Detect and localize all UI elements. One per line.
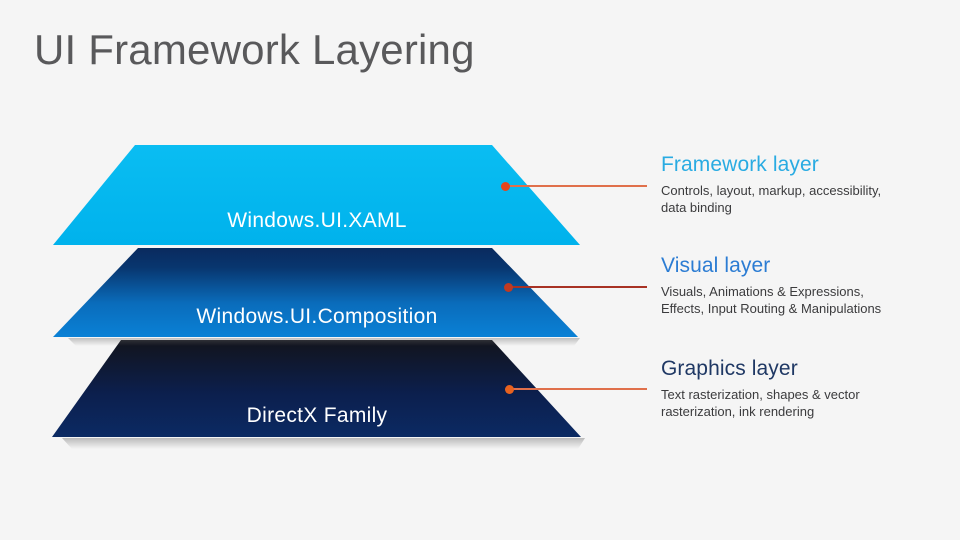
- slide-canvas: UI Framework Layering: [0, 0, 960, 540]
- callout-graphics-desc-line-1: Text rasterization, shapes & vector: [661, 386, 953, 403]
- callout-visual-title: Visual layer: [661, 253, 953, 279]
- connector-line-framework: [506, 185, 647, 187]
- callout-visual-desc-line-1: Visuals, Animations & Expressions,: [661, 283, 953, 300]
- connector-dot-visual: [504, 283, 513, 292]
- callout-visual-description: Visuals, Animations & Expressions, Effec…: [661, 283, 953, 317]
- callout-framework-title: Framework layer: [661, 152, 953, 178]
- callout-framework-description: Controls, layout, markup, accessibility,…: [661, 182, 953, 216]
- callout-graphics-desc-line-2: rasterization, ink rendering: [661, 403, 953, 420]
- layer-framework-shape: [0, 0, 660, 470]
- connector-dot-graphics: [505, 385, 514, 394]
- callout-visual: Visual layer Visuals, Animations & Expre…: [661, 253, 953, 317]
- connector-line-visual: [509, 286, 647, 288]
- callout-graphics-title: Graphics layer: [661, 356, 953, 382]
- layer-stack-diagram: DirectX Family: [0, 0, 660, 470]
- connector-line-graphics: [510, 388, 647, 390]
- callout-framework-desc-line-1: Controls, layout, markup, accessibility,: [661, 182, 953, 199]
- callout-visual-desc-line-2: Effects, Input Routing & Manipulations: [661, 300, 953, 317]
- callout-framework-desc-line-2: data binding: [661, 199, 953, 216]
- callout-graphics-description: Text rasterization, shapes & vector rast…: [661, 386, 953, 420]
- callout-graphics: Graphics layer Text rasterization, shape…: [661, 356, 953, 420]
- layer-framework[interactable]: Windows.UI.XAML: [0, 0, 660, 470]
- callout-framework: Framework layer Controls, layout, markup…: [661, 152, 953, 216]
- connector-dot-framework: [501, 182, 510, 191]
- layer-framework-label: Windows.UI.XAML: [227, 209, 407, 233]
